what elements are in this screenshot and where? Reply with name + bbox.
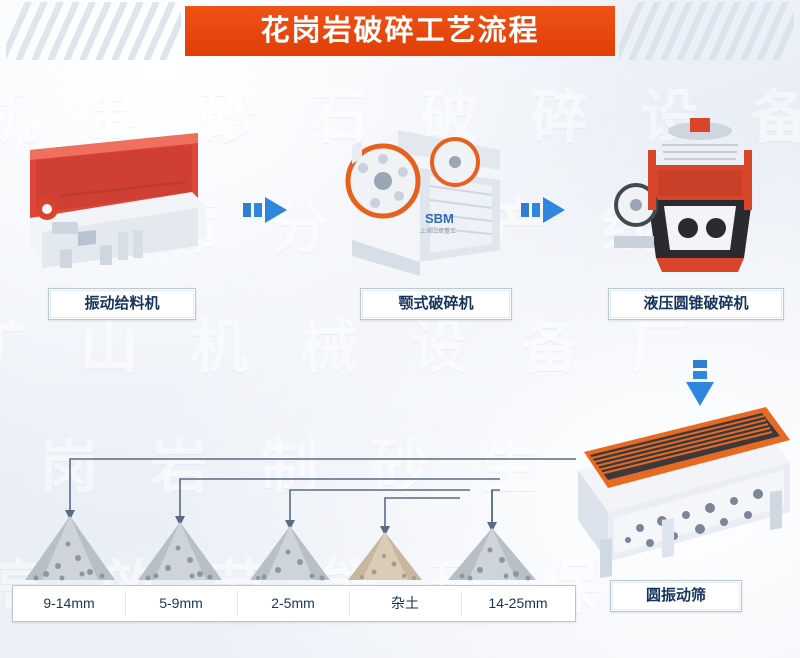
flow-diagram-page: 机 制 砂 石 破 碎 设 备 破 碎 筛 分 生 产 线 矿 山 机 械 设 … xyxy=(0,0,800,658)
output-size-4: 杂土 xyxy=(349,586,461,621)
machines-illustration: SBM 上海山卓重工 xyxy=(0,0,800,658)
circular-vibrating-screen-graphic xyxy=(578,407,790,578)
output-size-2: 5-9mm xyxy=(125,586,237,621)
output-size-1: 9-14mm xyxy=(13,586,125,621)
output-size-5: 14-25mm xyxy=(461,586,575,621)
distribution-lines xyxy=(70,459,576,528)
banner-stripes-right xyxy=(619,2,794,60)
background-watermark: 机 制 砂 石 破 碎 设 备 破 碎 筛 分 生 产 线 矿 山 机 械 设 … xyxy=(0,0,800,658)
arrow-jaw-to-cone xyxy=(521,197,567,223)
label-hydraulic-cone-crusher-text: 液压圆锥破碎机 xyxy=(610,290,782,318)
vibrating-feeder-graphic xyxy=(30,133,206,268)
svg-text:SBM: SBM xyxy=(425,211,454,226)
arrow-feeder-to-jaw xyxy=(243,197,289,223)
distribution-arrowheads xyxy=(65,510,497,536)
label-vibrating-feeder-text: 振动给料机 xyxy=(50,290,194,318)
label-vibrating-feeder: 振动给料机 xyxy=(48,288,196,320)
pile-1 xyxy=(25,516,115,581)
output-size-3: 2-5mm xyxy=(237,586,349,621)
output-sizes-bar: 9-14mm 5-9mm 2-5mm 杂土 14-25mm xyxy=(12,585,576,622)
pile-2 xyxy=(138,522,222,581)
label-circular-vibrating-screen-text: 圆振动筛 xyxy=(612,582,740,610)
svg-text:上海山卓重工: 上海山卓重工 xyxy=(420,227,456,235)
header-banner: 花岗岩破碎工艺流程 xyxy=(0,0,800,62)
pile-5 xyxy=(448,528,536,581)
hydraulic-cone-crusher-graphic xyxy=(614,118,752,272)
label-circular-vibrating-screen: 圆振动筛 xyxy=(610,580,742,612)
material-piles xyxy=(25,516,536,581)
label-jaw-crusher: 颚式破碎机 xyxy=(360,288,512,320)
label-jaw-crusher-text: 颚式破碎机 xyxy=(362,290,510,318)
arrow-cone-to-screen xyxy=(686,360,714,406)
label-hydraulic-cone-crusher: 液压圆锥破碎机 xyxy=(608,288,784,320)
page-title: 花岗岩破碎工艺流程 xyxy=(185,6,615,56)
pile-3 xyxy=(250,526,330,581)
pile-4 xyxy=(348,532,422,580)
jaw-crusher-graphic: SBM 上海山卓重工 xyxy=(348,130,500,276)
banner-stripes-left xyxy=(6,2,181,60)
